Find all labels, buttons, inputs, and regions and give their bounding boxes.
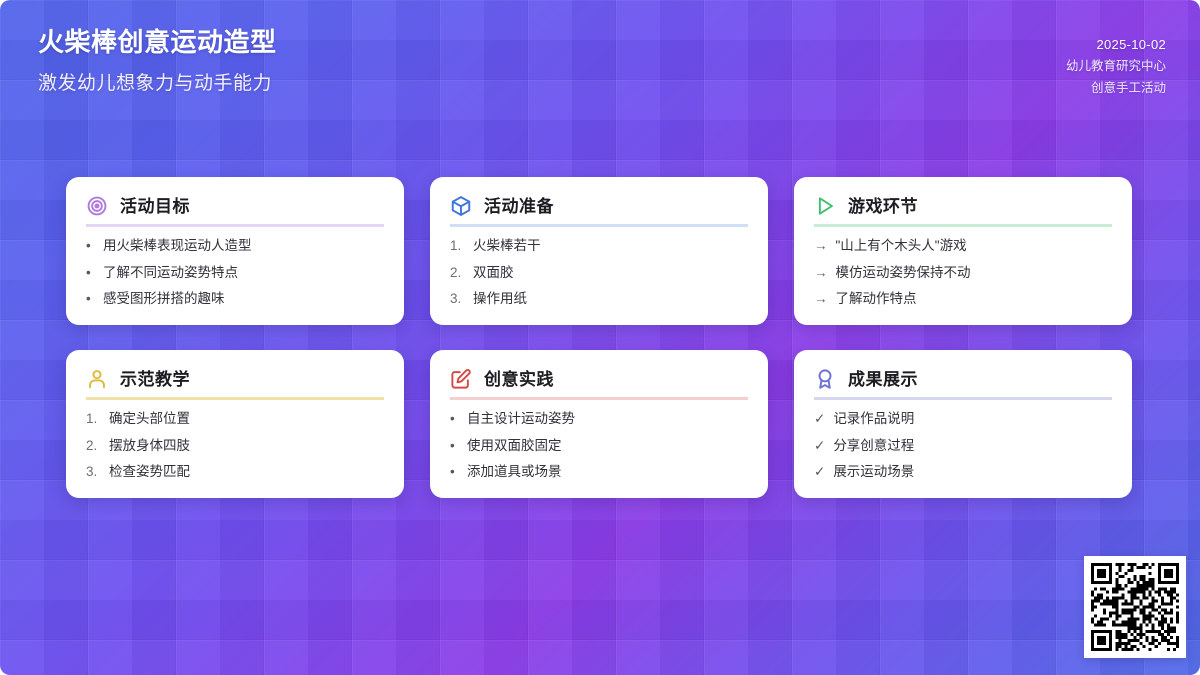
list-item-marker: • — [450, 462, 459, 482]
list-item: •自主设计运动姿势 — [450, 409, 748, 429]
list-item-marker: ✓ — [814, 462, 825, 482]
slide-header: 火柴棒创意运动造型 激发幼儿想象力与动手能力 2025-10-02 幼儿教育研究… — [0, 0, 1200, 135]
list-item-marker: 3. — [86, 462, 101, 482]
list-item-marker: → — [814, 289, 828, 309]
list-item-text: 用火柴棒表现运动人造型 — [103, 236, 252, 256]
list-item-text: 记录作品说明 — [833, 409, 914, 429]
card-header: 创意实践 — [450, 368, 748, 400]
play-icon — [814, 195, 836, 217]
header-category: 创意手工活动 — [1066, 78, 1166, 100]
list-item-text: 添加道具或场景 — [467, 462, 562, 482]
card-2: 活动准备1.火柴棒若干2.双面胶3.操作用纸 — [430, 177, 768, 325]
list-item: ✓展示运动场景 — [814, 462, 1112, 482]
card-title: 游戏环节 — [848, 198, 918, 215]
list-item-marker: 1. — [450, 236, 465, 256]
list-item-marker: 3. — [450, 289, 465, 309]
card-item-list: 1.确定头部位置2.摆放身体四肢3.检查姿势匹配 — [86, 409, 384, 482]
list-item-text: 模仿运动姿势保持不动 — [836, 263, 971, 283]
header-meta: 2025-10-02 幼儿教育研究中心 创意手工活动 — [1066, 26, 1166, 99]
card-title: 活动目标 — [120, 198, 190, 215]
card-item-list: →"山上有个木头人"游戏→模仿运动姿势保持不动→了解动作特点 — [814, 236, 1112, 309]
edit-icon — [450, 368, 472, 390]
target-icon — [86, 195, 108, 217]
list-item: •使用双面胶固定 — [450, 436, 748, 456]
card-5: 创意实践•自主设计运动姿势•使用双面胶固定•添加道具或场景 — [430, 350, 768, 498]
list-item: 3.检查姿势匹配 — [86, 462, 384, 482]
qr-code-container[interactable] — [1084, 556, 1186, 658]
card-header: 活动目标 — [86, 195, 384, 227]
list-item: •感受图形拼搭的趣味 — [86, 289, 384, 309]
list-item-marker: 2. — [450, 263, 465, 283]
list-item-marker: → — [814, 236, 828, 256]
page-title: 火柴棒创意运动造型 — [38, 26, 277, 59]
card-grid: 活动目标•用火柴棒表现运动人造型•了解不同运动姿势特点•感受图形拼搭的趣味活动准… — [66, 177, 1134, 498]
list-item: ✓记录作品说明 — [814, 409, 1112, 429]
list-item: 2.双面胶 — [450, 263, 748, 283]
list-item-text: 分享创意过程 — [833, 436, 914, 456]
list-item: →模仿运动姿势保持不动 — [814, 263, 1112, 283]
card-item-list: ✓记录作品说明✓分享创意过程✓展示运动场景 — [814, 409, 1112, 482]
list-item-text: 感受图形拼搭的趣味 — [103, 289, 225, 309]
header-organization: 幼儿教育研究中心 — [1066, 56, 1166, 78]
list-item-text: 使用双面胶固定 — [467, 436, 562, 456]
card-header: 示范教学 — [86, 368, 384, 400]
list-item-marker: ✓ — [814, 409, 825, 429]
person-icon — [86, 368, 108, 390]
card-title: 活动准备 — [484, 198, 554, 215]
card-header: 成果展示 — [814, 368, 1112, 400]
card-item-list: •自主设计运动姿势•使用双面胶固定•添加道具或场景 — [450, 409, 748, 482]
card-title: 成果展示 — [848, 371, 918, 388]
list-item: 1.确定头部位置 — [86, 409, 384, 429]
header-date: 2025-10-02 — [1066, 34, 1166, 56]
award-icon — [814, 368, 836, 390]
list-item-marker: • — [86, 289, 95, 309]
list-item-marker: • — [86, 263, 95, 283]
card-header: 游戏环节 — [814, 195, 1112, 227]
card-title: 示范教学 — [120, 371, 190, 388]
list-item-marker: • — [86, 236, 95, 256]
qr-code — [1091, 563, 1179, 651]
page-subtitle: 激发幼儿想象力与动手能力 — [38, 68, 277, 95]
slide-root: 火柴棒创意运动造型 激发幼儿想象力与动手能力 2025-10-02 幼儿教育研究… — [0, 0, 1200, 675]
list-item: 2.摆放身体四肢 — [86, 436, 384, 456]
list-item-text: 双面胶 — [473, 263, 514, 283]
list-item: 3.操作用纸 — [450, 289, 748, 309]
card-1: 活动目标•用火柴棒表现运动人造型•了解不同运动姿势特点•感受图形拼搭的趣味 — [66, 177, 404, 325]
list-item-text: 火柴棒若干 — [473, 236, 541, 256]
card-title: 创意实践 — [484, 371, 554, 388]
list-item-text: 自主设计运动姿势 — [467, 409, 575, 429]
list-item: ✓分享创意过程 — [814, 436, 1112, 456]
list-item-text: 展示运动场景 — [833, 462, 914, 482]
list-item-text: 操作用纸 — [473, 289, 527, 309]
cube-icon — [450, 195, 472, 217]
header-left: 火柴棒创意运动造型 激发幼儿想象力与动手能力 — [38, 26, 277, 95]
list-item-marker: → — [814, 263, 828, 283]
list-item-text: 摆放身体四肢 — [109, 436, 190, 456]
list-item-marker: 1. — [86, 409, 101, 429]
list-item-text: "山上有个木头人"游戏 — [836, 236, 967, 256]
list-item-text: 确定头部位置 — [109, 409, 190, 429]
list-item-text: 了解动作特点 — [836, 289, 917, 309]
card-item-list: 1.火柴棒若干2.双面胶3.操作用纸 — [450, 236, 748, 309]
list-item-marker: • — [450, 409, 459, 429]
list-item-text: 了解不同运动姿势特点 — [103, 263, 238, 283]
list-item-marker: • — [450, 436, 459, 456]
list-item: →了解动作特点 — [814, 289, 1112, 309]
card-6: 成果展示✓记录作品说明✓分享创意过程✓展示运动场景 — [794, 350, 1132, 498]
list-item: •了解不同运动姿势特点 — [86, 263, 384, 283]
list-item-marker: ✓ — [814, 436, 825, 456]
list-item: •添加道具或场景 — [450, 462, 748, 482]
card-item-list: •用火柴棒表现运动人造型•了解不同运动姿势特点•感受图形拼搭的趣味 — [86, 236, 384, 309]
card-3: 游戏环节→"山上有个木头人"游戏→模仿运动姿势保持不动→了解动作特点 — [794, 177, 1132, 325]
list-item: →"山上有个木头人"游戏 — [814, 236, 1112, 256]
card-4: 示范教学1.确定头部位置2.摆放身体四肢3.检查姿势匹配 — [66, 350, 404, 498]
card-header: 活动准备 — [450, 195, 748, 227]
list-item: •用火柴棒表现运动人造型 — [86, 236, 384, 256]
list-item-marker: 2. — [86, 436, 101, 456]
list-item-text: 检查姿势匹配 — [109, 462, 190, 482]
list-item: 1.火柴棒若干 — [450, 236, 748, 256]
